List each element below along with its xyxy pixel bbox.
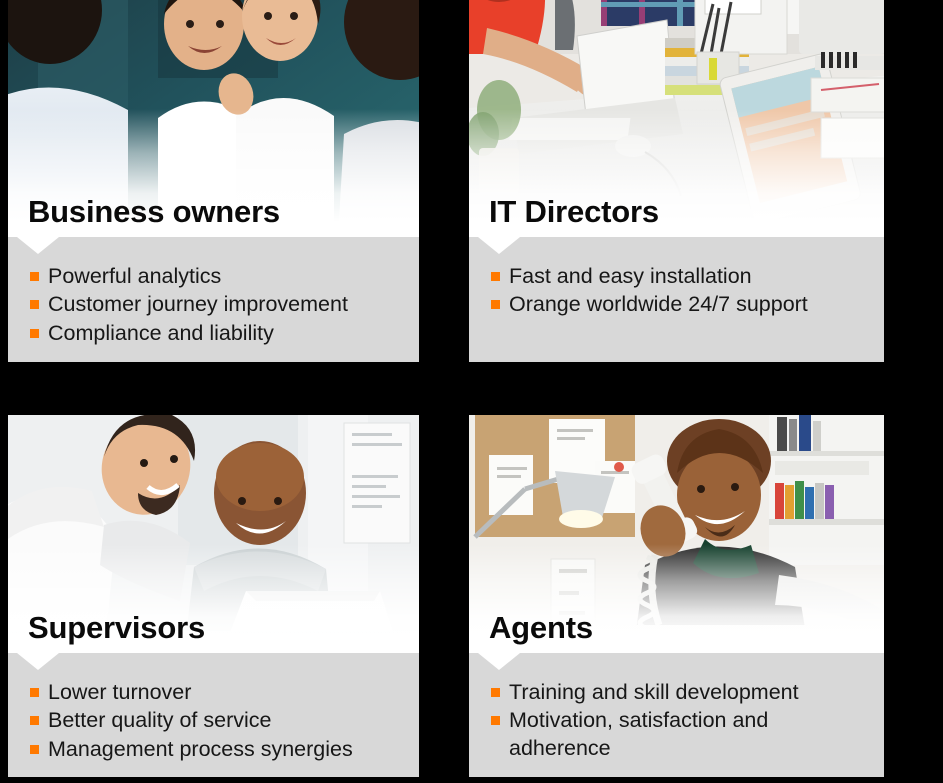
notch-triangle-icon xyxy=(17,653,59,670)
list-item: Compliance and liability xyxy=(22,320,405,347)
benefit-text: Management process synergies xyxy=(48,737,353,761)
list-item: Orange worldwide 24/7 support xyxy=(483,291,870,318)
list-item: Powerful analytics xyxy=(22,263,405,290)
benefit-text: Training and skill development xyxy=(509,680,799,704)
benefit-list-supervisors: Lower turnover Better quality of service… xyxy=(22,679,405,763)
card-photo-agents: Agents xyxy=(469,415,884,653)
benefit-list-business-owners: Powerful analytics Customer journey impr… xyxy=(22,263,405,347)
square-bullet-icon xyxy=(491,272,500,281)
benefit-text: Better quality of service xyxy=(48,708,271,732)
benefit-text: Motivation, satisfaction and adherence xyxy=(509,708,768,759)
slide-canvas: Business owners Powerful analytics Custo… xyxy=(0,0,943,783)
card-photo-supervisors: Supervisors xyxy=(8,415,419,653)
list-item: Lower turnover xyxy=(22,679,405,706)
square-bullet-icon xyxy=(491,300,500,309)
square-bullet-icon xyxy=(30,272,39,281)
benefit-text: Powerful analytics xyxy=(48,264,221,288)
card-title-agents: Agents xyxy=(489,612,593,645)
benefit-text: Lower turnover xyxy=(48,680,191,704)
card-benefits-business-owners: Powerful analytics Customer journey impr… xyxy=(8,237,419,362)
benefit-text: Orange worldwide 24/7 support xyxy=(509,292,808,316)
persona-card-agents[interactable]: Agents Training and skill development Mo… xyxy=(469,415,884,777)
list-item: Motivation, satisfaction and adherence xyxy=(483,707,870,762)
square-bullet-icon xyxy=(491,688,500,697)
persona-card-supervisors[interactable]: Supervisors Lower turnover Better qualit… xyxy=(8,415,419,777)
benefit-text: Fast and easy installation xyxy=(509,264,752,288)
persona-card-it-directors[interactable]: IT Directors Fast and easy installation … xyxy=(469,0,884,362)
square-bullet-icon xyxy=(30,329,39,338)
notch-triangle-icon xyxy=(478,653,520,670)
square-bullet-icon xyxy=(30,745,39,754)
card-title-business-owners: Business owners xyxy=(28,196,280,229)
list-item: Better quality of service xyxy=(22,707,405,734)
list-item: Customer journey improvement xyxy=(22,291,405,318)
square-bullet-icon xyxy=(491,716,500,725)
list-item: Training and skill development xyxy=(483,679,870,706)
persona-card-business-owners[interactable]: Business owners Powerful analytics Custo… xyxy=(8,0,419,362)
list-item: Fast and easy installation xyxy=(483,263,870,290)
benefit-list-agents: Training and skill development Motivatio… xyxy=(483,679,870,762)
square-bullet-icon xyxy=(30,300,39,309)
card-photo-it-directors: IT Directors xyxy=(469,0,884,237)
benefit-list-it-directors: Fast and easy installation Orange worldw… xyxy=(483,263,870,319)
square-bullet-icon xyxy=(30,716,39,725)
list-item: Management process synergies xyxy=(22,736,405,763)
card-benefits-agents: Training and skill development Motivatio… xyxy=(469,653,884,777)
card-benefits-supervisors: Lower turnover Better quality of service… xyxy=(8,653,419,777)
card-title-it-directors: IT Directors xyxy=(489,196,659,229)
card-benefits-it-directors: Fast and easy installation Orange worldw… xyxy=(469,237,884,362)
benefit-text: Compliance and liability xyxy=(48,321,274,345)
benefit-text: Customer journey improvement xyxy=(48,292,348,316)
card-title-supervisors: Supervisors xyxy=(28,612,205,645)
notch-triangle-icon xyxy=(17,237,59,254)
notch-triangle-icon xyxy=(478,237,520,254)
card-photo-business-owners: Business owners xyxy=(8,0,419,237)
square-bullet-icon xyxy=(30,688,39,697)
